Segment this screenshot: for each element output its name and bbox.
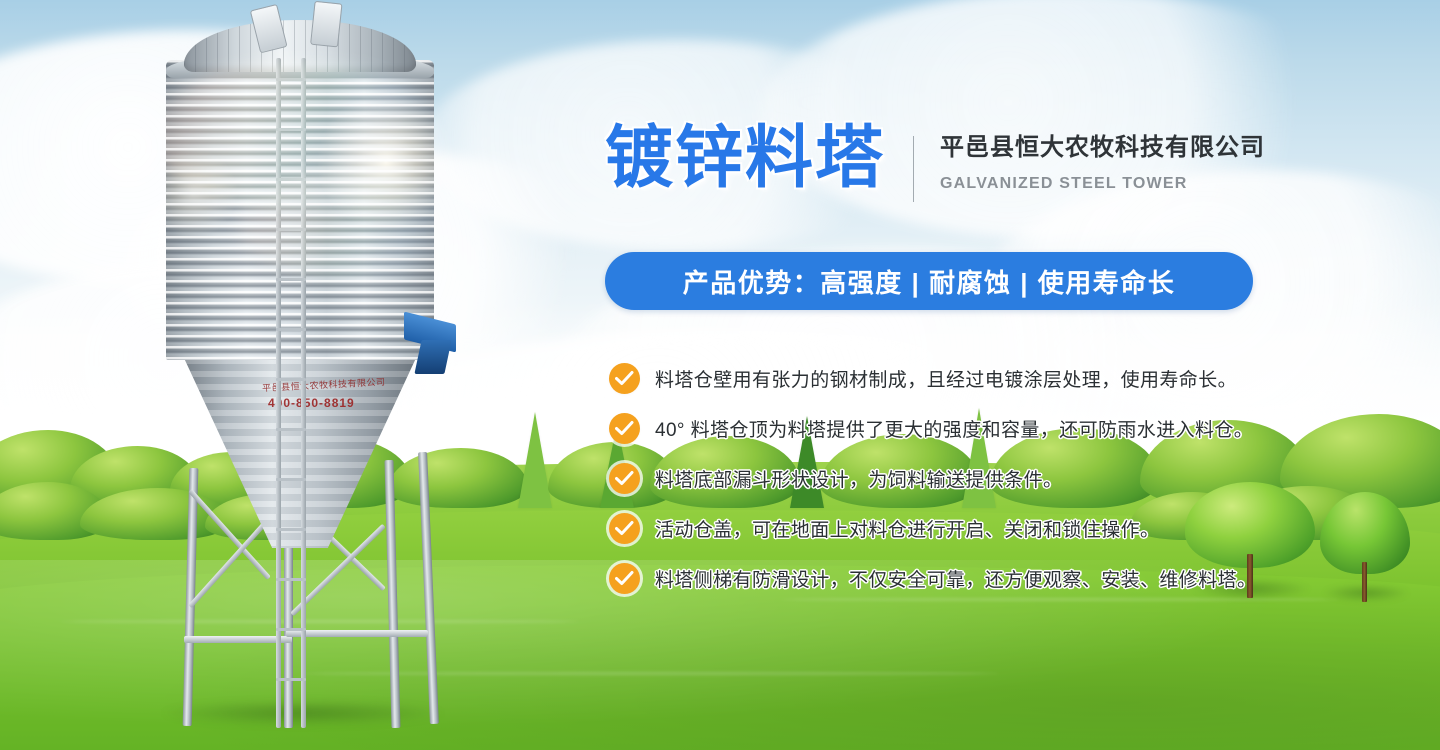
title-divider (913, 136, 914, 202)
check-circle-icon (609, 363, 640, 394)
list-item: 料塔仓壁用有张力的钢材制成，且经过电镀涂层处理，使用寿命长。 (609, 361, 1409, 395)
feature-text: 活动仓盖，可在地面上对料仓进行开启、关闭和锁住操作。 (655, 515, 1159, 542)
check-circle-icon (609, 563, 640, 594)
list-item: 料塔底部漏斗形状设计，为饲料输送提供条件。 (609, 461, 1409, 495)
list-item: 40° 料塔仓顶为料塔提供了更大的强度和容量，还可防雨水进入料仓。 (609, 411, 1409, 445)
product-advantage-text: 产品优势：高强度 | 耐腐蚀 | 使用寿命长 (683, 263, 1175, 300)
title-block: 镀锌料塔 平邑县恒大农牧科技有限公司 GALVANIZED STEEL TOWE… (605, 124, 1265, 202)
list-item: 料塔侧梯有防滑设计，不仅安全可靠，还方便观察、安装、维修料塔。 (609, 561, 1409, 595)
company-block: 平邑县恒大农牧科技有限公司 GALVANIZED STEEL TOWER (940, 124, 1265, 193)
company-name: 平邑县恒大农牧科技有限公司 (940, 134, 1265, 163)
feature-text: 料塔底部漏斗形状设计，为饲料输送提供条件。 (655, 465, 1062, 492)
feature-text: 40° 料塔仓顶为料塔提供了更大的强度和容量，还可防雨水进入料仓。 (655, 415, 1253, 442)
check-circle-icon (609, 513, 640, 544)
check-circle-icon (609, 463, 640, 494)
page-title: 镀锌料塔 (605, 124, 885, 192)
feature-text: 料塔仓壁用有张力的钢材制成，且经过电镀涂层处理，使用寿命长。 (655, 365, 1237, 392)
product-hero-banner: 平邑县恒大农牧科技有限公司 400-850-8819 (0, 0, 1440, 750)
check-circle-icon (609, 413, 640, 444)
feature-text: 料塔侧梯有防滑设计，不仅安全可靠，还方便观察、安装、维修料塔。 (655, 565, 1256, 592)
product-advantage-banner: 产品优势：高强度 | 耐腐蚀 | 使用寿命长 (605, 252, 1253, 310)
feature-list: 料塔仓壁用有张力的钢材制成，且经过电镀涂层处理，使用寿命长。 40° 料塔仓顶为… (609, 361, 1409, 611)
list-item: 活动仓盖，可在地面上对料仓进行开启、关闭和锁住操作。 (609, 511, 1409, 545)
banner-text-content: 镀锌料塔 平邑县恒大农牧科技有限公司 GALVANIZED STEEL TOWE… (0, 0, 1440, 750)
company-name-english: GALVANIZED STEEL TOWER (940, 175, 1265, 193)
